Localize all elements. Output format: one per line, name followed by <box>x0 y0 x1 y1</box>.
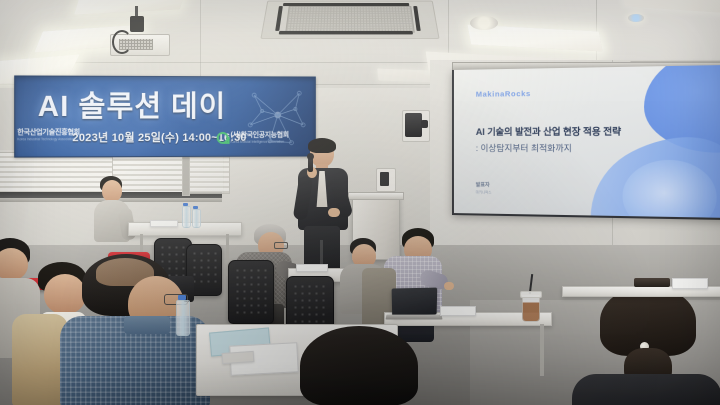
paper-handout <box>222 351 255 364</box>
slide-logo: MakinaRocks <box>476 89 531 99</box>
logo-kita: 한국산업기술진흥협회 Korea Industrial Technology A… <box>17 129 70 147</box>
logo-kaia-ko: (사)한국인공지능협회 <box>231 131 289 139</box>
attendee-head <box>102 180 122 202</box>
wall-control-panel[interactable] <box>376 168 396 192</box>
ceiling-air-conditioner <box>260 1 439 39</box>
water-bottle <box>182 206 191 228</box>
presenter-hair <box>308 138 336 153</box>
ceiling-light-panel <box>74 0 186 15</box>
attendee-hand <box>444 282 454 290</box>
shirt-collar <box>124 316 170 334</box>
laptop-screen[interactable] <box>392 288 438 317</box>
projector-cable <box>112 30 132 54</box>
wall-panel-display <box>380 172 389 186</box>
bottle-cap <box>193 206 198 209</box>
ceiling-projector <box>110 28 168 54</box>
paper-handout <box>672 278 708 289</box>
laptop-keyboard[interactable] <box>386 315 443 320</box>
slide-subtitle: : 이상탐지부터 최적화까지 <box>476 142 686 155</box>
slide-title: AI 기술의 발전과 산업 현장 적용 전략 <box>476 125 686 139</box>
device-on-table <box>634 278 670 287</box>
attendee-hair <box>300 326 418 405</box>
paper-handout <box>440 306 476 316</box>
presenter-hand-right <box>328 208 340 217</box>
speaker-box <box>405 113 422 137</box>
window-blinds <box>186 152 230 194</box>
slide-presenter: 발표자 마키나락스 <box>476 182 492 196</box>
logo-kita-en: Korea Industrial Technology Association <box>17 137 70 142</box>
cup-lid <box>520 291 542 298</box>
ceiling-downlight <box>628 14 644 22</box>
kaia-mark-icon <box>217 132 229 144</box>
seminar-room-photo: AI 솔루션 데이 2023년 10월 25일(수) 14:00~16:30 한… <box>0 0 720 405</box>
bottle-cap <box>178 295 186 300</box>
water-bottle <box>176 300 190 336</box>
logo-kaia-en: Korea Artificial Intelligence Associatio… <box>231 139 289 144</box>
eyeglasses-icon <box>274 242 288 249</box>
speaker-bracket <box>421 120 428 128</box>
person-attendee <box>92 176 134 250</box>
table-leg <box>540 324 544 376</box>
iced-coffee-cup <box>522 294 540 322</box>
water-bottle <box>192 209 201 228</box>
paper-handout <box>150 220 178 227</box>
slide-presenter-affiliation: 마키나락스 <box>476 189 492 196</box>
paper-handout <box>296 264 328 272</box>
ac-grille <box>285 6 415 33</box>
bottle-cap <box>183 203 188 206</box>
attendee-jacket-dark <box>572 374 720 405</box>
banner-title: AI 솔루션 데이 <box>38 83 300 125</box>
ceiling-downlight <box>470 16 498 30</box>
projection-screen: MakinaRocks AI 기술의 발전과 산업 현장 적용 전략 : 이상탐… <box>452 65 720 220</box>
event-banner: AI 솔루션 데이 2023년 10월 25일(수) 14:00~16:30 한… <box>14 75 316 157</box>
person-attendee <box>300 326 420 405</box>
microphone-capsule-icon <box>307 153 314 160</box>
logo-kita-ko: 한국산업기술진흥협회 <box>17 129 70 137</box>
ceiling-light-panel <box>621 0 720 14</box>
person-attendee <box>578 286 720 405</box>
wall-speaker <box>402 110 428 140</box>
projector-mount <box>130 16 144 32</box>
